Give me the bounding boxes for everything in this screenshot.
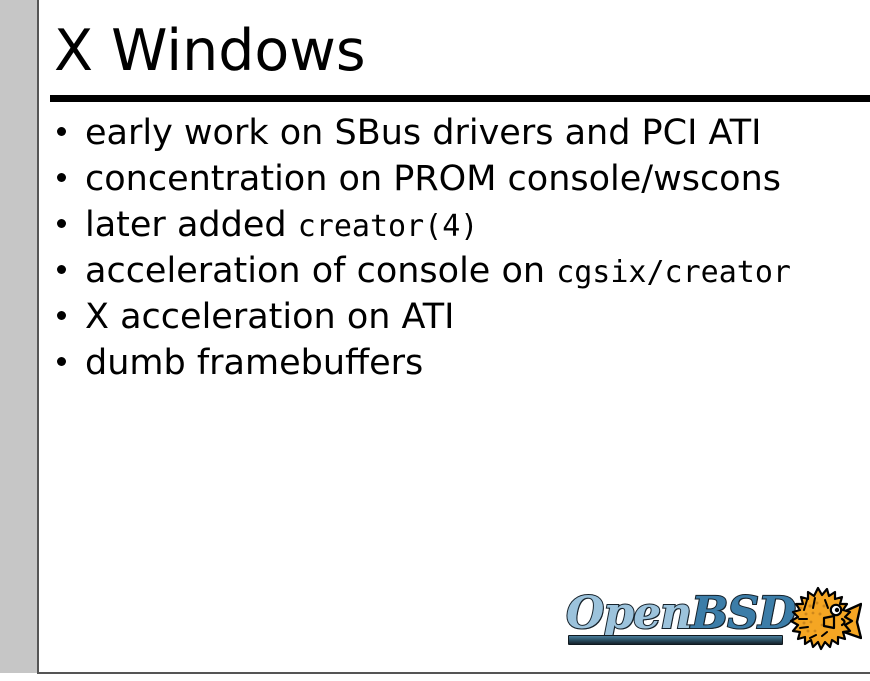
bottom-divider bbox=[37, 672, 870, 674]
list-item-text: later added creator(4) bbox=[85, 203, 478, 249]
openbsd-underline-bar bbox=[568, 635, 783, 645]
list-item: acceleration of console on cgsix/creator bbox=[54, 249, 870, 295]
bullet-dot-icon bbox=[57, 357, 66, 366]
list-item-text: concentration on PROM console/wscons bbox=[85, 157, 781, 203]
list-item: concentration on PROM console/wscons bbox=[54, 157, 870, 203]
title-underline-rule bbox=[50, 95, 870, 102]
page-title: X Windows bbox=[54, 17, 366, 85]
left-gutter-band bbox=[0, 0, 37, 673]
bullet-dot-icon bbox=[57, 219, 66, 228]
puffy-fish-icon bbox=[784, 586, 862, 658]
list-item-code: creator(4) bbox=[298, 209, 479, 244]
bullet-list: early work on SBus drivers and PCI ATI c… bbox=[54, 111, 870, 387]
slide: X Windows early work on SBus drivers and… bbox=[0, 0, 870, 681]
list-item-text: acceleration of console on cgsix/creator bbox=[85, 249, 791, 295]
openbsd-logo: OpenBSD bbox=[566, 586, 862, 662]
bullet-dot-icon bbox=[57, 127, 66, 136]
list-item: later added creator(4) bbox=[54, 203, 870, 249]
bullet-dot-icon bbox=[57, 265, 66, 274]
openbsd-word-bsd: BSD bbox=[691, 588, 795, 639]
bullet-dot-icon bbox=[57, 173, 66, 182]
list-item-text: dumb framebuffers bbox=[85, 341, 423, 387]
gutter-divider bbox=[37, 0, 39, 674]
list-item-code: cgsix/creator bbox=[556, 255, 791, 290]
list-item: early work on SBus drivers and PCI ATI bbox=[54, 111, 870, 157]
openbsd-word-open: Open bbox=[566, 588, 691, 639]
list-item: X acceleration on ATI bbox=[54, 295, 870, 341]
list-item: dumb framebuffers bbox=[54, 341, 870, 387]
list-item-text: X acceleration on ATI bbox=[85, 295, 454, 341]
bullet-dot-icon bbox=[57, 311, 66, 320]
list-item-text: early work on SBus drivers and PCI ATI bbox=[85, 111, 761, 157]
